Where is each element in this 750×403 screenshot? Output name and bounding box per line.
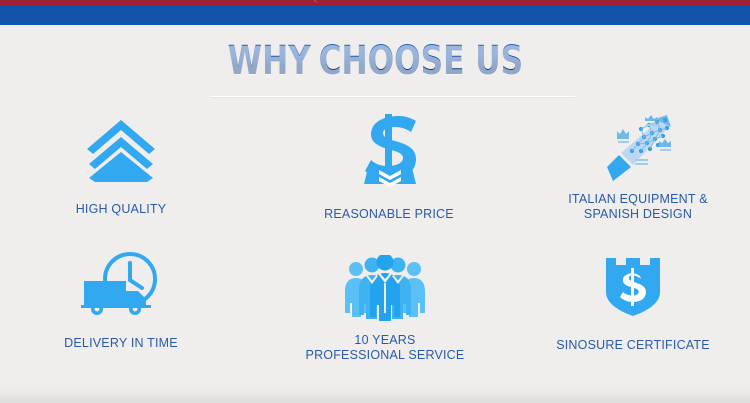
content-panel: WHYCHOOSE US HIGH QUALITY xyxy=(0,25,750,403)
feature-label: DELIVERY IN TIME xyxy=(64,336,178,351)
title-divider xyxy=(210,96,575,97)
feature-grid: HIGH QUALITY REASONABLE PRICE xyxy=(0,113,750,387)
feature-label: 10 YEARS PROFESSIONAL SERVICE xyxy=(306,333,465,363)
page-title-word-2: CHOOSE US xyxy=(318,38,523,84)
shield-dollar-icon xyxy=(604,250,662,322)
feature-item-italian-equipment[interactable]: ITALIAN EQUIPMENT & SPANISH DESIGN xyxy=(513,113,750,250)
people-group-icon xyxy=(344,250,426,326)
feature-item-delivery-in-time[interactable]: DELIVERY IN TIME xyxy=(0,250,246,387)
page-title: WHYCHOOSE US xyxy=(0,39,750,83)
why-choose-us-banner: SPECIAL PRICE * BEST QUALITY * FAST DELI… xyxy=(0,0,750,403)
feature-item-professional-service[interactable]: 10 YEARS PROFESSIONAL SERVICE xyxy=(260,250,510,387)
top-blue-bar xyxy=(0,5,750,25)
feature-label: REASONABLE PRICE xyxy=(324,207,454,222)
feature-item-high-quality[interactable]: HIGH QUALITY xyxy=(0,113,246,250)
design-pen-icon xyxy=(597,113,679,185)
top-strip-cut-text: SPECIAL PRICE * BEST QUALITY * FAST DELI… xyxy=(0,0,750,3)
feature-item-sinosure-certificate[interactable]: SINOSURE CERTIFICATE xyxy=(508,250,750,387)
page-title-word-1: WHY xyxy=(227,38,310,84)
feature-label: SINOSURE CERTIFICATE xyxy=(556,338,710,353)
feature-label: HIGH QUALITY xyxy=(76,202,167,217)
feature-item-reasonable-price[interactable]: REASONABLE PRICE xyxy=(264,113,514,250)
chevron-badge-icon xyxy=(85,113,157,189)
dollar-price-down-icon xyxy=(359,113,419,191)
feature-label: ITALIAN EQUIPMENT & SPANISH DESIGN xyxy=(568,192,707,222)
truck-clock-icon xyxy=(81,250,161,322)
